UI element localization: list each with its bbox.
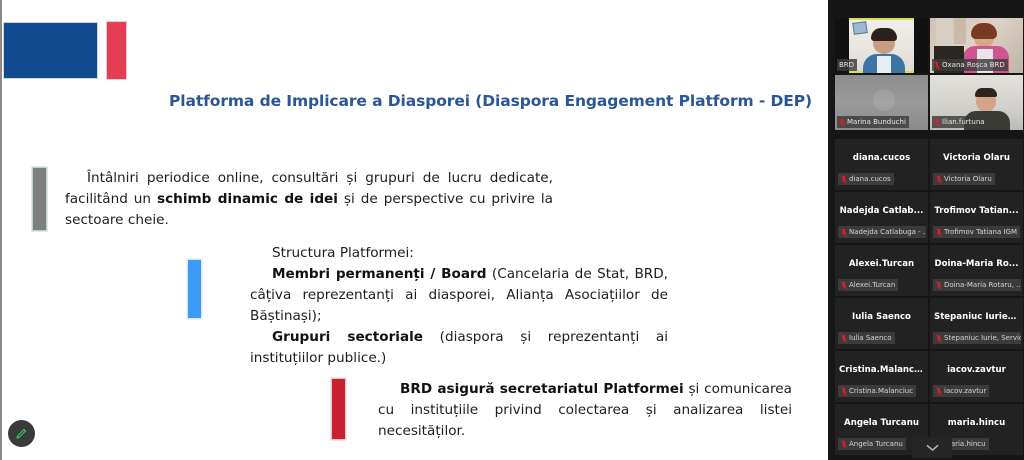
participant-tag-text: diana.cucos	[849, 174, 891, 184]
flag-red-block	[107, 22, 126, 79]
blurred-silhouette	[873, 89, 895, 111]
b3-part-0: BRD asigură secretariatul Platformei	[400, 381, 684, 397]
video-tile-label: BRD	[837, 59, 857, 71]
block-3-text: BRD asigură secretariatul Platformei și …	[378, 379, 792, 442]
participant-tile[interactable]: Doina-Maria Ro... Doina-Maria Rotaru, ..…	[930, 245, 1023, 296]
participant-tag-text: Angela Turcanu	[849, 439, 903, 449]
block-1-text: Întâlniri periodice online, consultări ș…	[65, 168, 553, 231]
b2-part-3: Grupuri sectoriale	[272, 329, 423, 345]
participant-display-name: diana.cucos	[835, 153, 928, 163]
muted-microphone-icon	[841, 228, 847, 237]
participant-label: Doina-Maria Rotaru, ...	[933, 279, 1021, 291]
participant-label: Nadejda Catlabuga - ...	[838, 226, 926, 238]
video-tile-ilian[interactable]: Ilian.furtuna	[930, 75, 1023, 130]
muted-microphone-icon	[841, 281, 847, 290]
muted-microphone-icon	[936, 387, 942, 396]
participant-tag-text: Stepaniuc Iurie, Servic...	[944, 333, 1021, 343]
participant-label: Angela Turcanu	[838, 438, 906, 450]
muted-microphone-icon	[839, 118, 845, 127]
participant-tag-text: Cristina.Malanciuc	[849, 386, 913, 396]
muted-microphone-icon	[934, 118, 940, 127]
muted-microphone-icon	[936, 281, 942, 290]
participants-panel: BRD Oxana Roș	[828, 0, 1024, 460]
muted-microphone-icon	[841, 440, 847, 449]
video-tile-grid: BRD Oxana Roș	[835, 18, 1023, 130]
muted-microphone-icon	[934, 61, 940, 70]
participant-label: Trofimov Tatiana IGM	[933, 226, 1020, 238]
participant-tile[interactable]: Nadejda Catlab... Nadejda Catlabuga - ..…	[835, 192, 928, 243]
pillarbox-right	[914, 18, 928, 73]
muted-microphone-icon	[936, 334, 942, 343]
show-more-participants-button[interactable]	[912, 437, 952, 458]
tile-name-2: Marina Bunduchi	[847, 117, 906, 127]
video-tile-label: Oxana Roșca BRD	[932, 59, 1008, 71]
participant-tile[interactable]: Trofimov Tatian... Trofimov Tatiana IGM	[930, 192, 1023, 243]
block-2-text: Structura Platformei: Membri permanenți …	[250, 243, 668, 369]
muted-microphone-icon	[841, 175, 847, 184]
participant-label: Alexei.Turcan	[838, 279, 898, 291]
participant-display-name: Stepaniuc Iurie,...	[930, 312, 1023, 322]
pen-icon	[14, 426, 29, 441]
video-tile-marina[interactable]: Marina Bunduchi	[835, 75, 928, 130]
participant-tag-text: Iulia Saenco	[849, 333, 892, 343]
participant-label: Iulia Saenco	[838, 332, 895, 344]
accent-bar-grey	[33, 168, 46, 230]
participant-display-name: Cristina.Malanciuc	[835, 365, 928, 375]
participant-display-name: Iulia Saenco	[835, 312, 928, 322]
participant-tag-text: Alexei.Turcan	[849, 280, 895, 290]
participant-hair	[971, 23, 997, 39]
video-tile-oxana[interactable]: Oxana Roșca BRD	[930, 18, 1023, 73]
participant-display-name: Trofimov Tatian...	[930, 206, 1023, 216]
content-block-2: Structura Platformei: Membri permanenți …	[188, 243, 668, 369]
tile-name-0: BRD	[839, 60, 854, 70]
wall-picture	[852, 21, 868, 35]
muted-microphone-icon	[841, 334, 847, 343]
participant-tile[interactable]: Cristina.Malanciuc Cristina.Malanciuc	[835, 351, 928, 402]
participant-display-name: Doina-Maria Ro...	[930, 259, 1023, 269]
participant-display-name: Angela Turcanu	[835, 418, 928, 428]
b2-heading: Structura Platformei:	[272, 245, 414, 261]
meeting-screen: Platforma de Implicare a Diasporei (Dias…	[0, 0, 1024, 460]
participant-label: Cristina.Malanciuc	[838, 385, 916, 397]
participant-hair	[871, 28, 897, 41]
participant-display-name: Alexei.Turcan	[835, 259, 928, 269]
tile-name-1: Oxana Roșca BRD	[942, 60, 1005, 70]
muted-microphone-icon	[936, 228, 942, 237]
slide-title: Platforma de Implicare a Diasporei (Dias…	[169, 92, 812, 110]
participant-hair	[975, 88, 997, 97]
participant-label: diana.cucos	[838, 173, 894, 185]
participant-tile[interactable]: Victoria Olaru Victoria Olaru	[930, 139, 1023, 190]
muted-microphone-icon	[936, 175, 942, 184]
content-block-1: Întâlniri periodice online, consultări ș…	[33, 168, 553, 231]
content-block-3: BRD asigură secretariatul Platformei și …	[332, 379, 792, 442]
participant-tile-list: diana.cucos diana.cucos Victoria Olaru V…	[835, 139, 1023, 455]
b1-part-1: schimb dinamic de idei	[157, 191, 338, 207]
participant-tile[interactable]: Alexei.Turcan Alexei.Turcan	[835, 245, 928, 296]
accent-bar-blue	[188, 260, 201, 318]
participant-tile[interactable]: iacov.zavtur iacov.zavtur	[930, 351, 1023, 402]
video-tile-label: Ilian.furtuna	[932, 116, 988, 128]
annotate-button[interactable]	[8, 420, 35, 447]
flag-blue-block	[4, 23, 97, 78]
participant-display-name: Victoria Olaru	[930, 153, 1023, 163]
participant-label: Victoria Olaru	[933, 173, 995, 185]
participant-display-name: maria.hincu	[930, 418, 1023, 428]
participant-display-name: iacov.zavtur	[930, 365, 1023, 375]
tile-name-3: Ilian.furtuna	[942, 117, 985, 127]
background-door	[954, 18, 966, 44]
participant-tile[interactable]: Iulia Saenco Iulia Saenco	[835, 298, 928, 349]
video-tile-label: Marina Bunduchi	[837, 116, 909, 128]
participant-tag-text: Nadejda Catlabuga - ...	[849, 227, 926, 237]
chevron-down-icon	[926, 444, 939, 452]
participant-tile[interactable]: diana.cucos diana.cucos	[835, 139, 928, 190]
participant-display-name: Nadejda Catlab...	[835, 206, 928, 216]
b2-part-1: Membri permanenți / Board	[272, 266, 486, 282]
muted-microphone-icon	[841, 387, 847, 396]
participant-shirt	[877, 56, 891, 73]
participant-tag-text: iacov.zavtur	[944, 386, 986, 396]
video-tile-brd[interactable]: BRD	[835, 18, 928, 73]
participant-tag-text: Trofimov Tatiana IGM	[944, 227, 1017, 237]
accent-bar-red	[332, 379, 345, 439]
participant-label: iacov.zavtur	[933, 385, 989, 397]
shared-slide: Platforma de Implicare a Diasporei (Dias…	[0, 0, 828, 460]
participant-tag-text: Victoria Olaru	[944, 174, 992, 184]
participant-tag-text: Doina-Maria Rotaru, ...	[944, 280, 1021, 290]
participant-tile[interactable]: Stepaniuc Iurie,... Stepaniuc Iurie, Ser…	[930, 298, 1023, 349]
participant-label: Stepaniuc Iurie, Servic...	[933, 332, 1021, 344]
